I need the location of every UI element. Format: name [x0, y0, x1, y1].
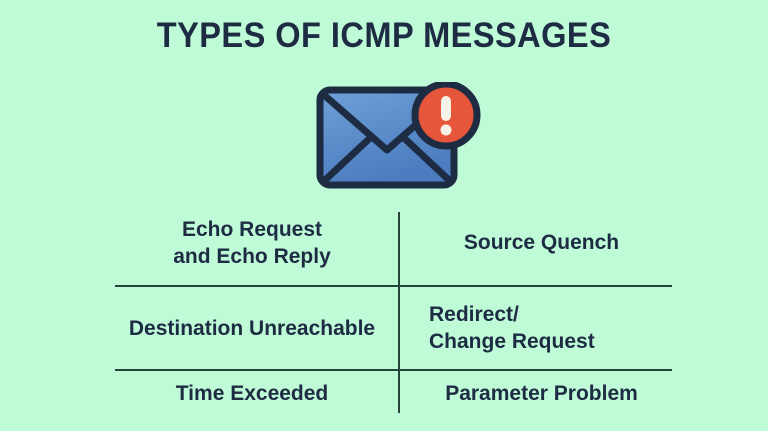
cell-text-line-1: Echo Request: [182, 218, 322, 241]
table-row: Destination Unreachable Redirect/ Change…: [115, 287, 672, 369]
cell-text-line-1: Destination Unreachable: [129, 315, 375, 342]
icmp-message-types-table: Echo Request and Echo Reply Source Quenc…: [115, 200, 672, 416]
table-cell-left: Destination Unreachable: [115, 287, 399, 369]
table-cell-right: Source Quench: [399, 200, 672, 285]
table-cell-left: Time Exceeded: [115, 371, 399, 416]
table-cell-right: Redirect/ Change Request: [399, 287, 672, 369]
cell-text-line-1: Source Quench: [464, 229, 619, 256]
table-cell-left: Echo Request and Echo Reply: [115, 200, 399, 285]
table-cell-right: Parameter Problem: [399, 371, 672, 416]
page-title: TYPES OF ICMP MESSAGES: [27, 16, 741, 56]
cell-text-line-1: Time Exceeded: [176, 380, 329, 407]
table-row: Time Exceeded Parameter Problem: [115, 371, 672, 416]
cell-text-line-1: Redirect/: [429, 303, 519, 326]
cell-text-line-2: and Echo Reply: [173, 243, 331, 270]
icmp-message-types-infographic: TYPES OF ICMP MESSAGES: [0, 0, 768, 431]
envelope-with-alert-badge-icon: [312, 82, 484, 192]
table-row: Echo Request and Echo Reply Source Quenc…: [115, 200, 672, 285]
cell-text-line-2: Change Request: [429, 328, 595, 355]
cell-text-line-1: Parameter Problem: [445, 380, 638, 407]
